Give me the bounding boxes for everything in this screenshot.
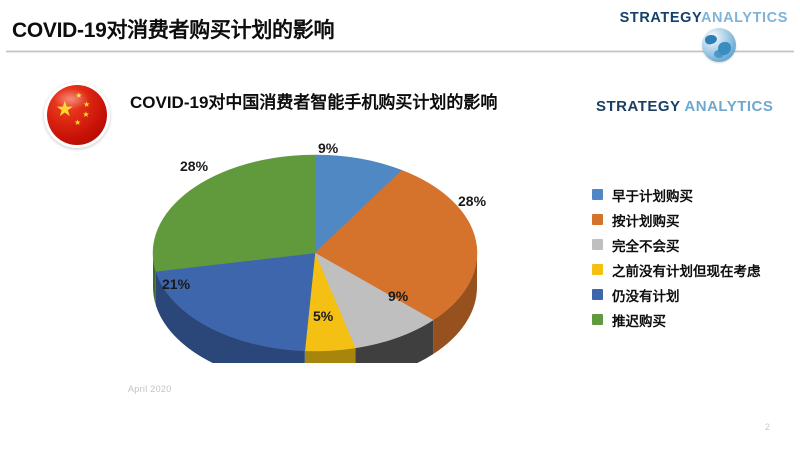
legend-label-3: 之前没有计划但现在考虑 — [612, 260, 761, 280]
pie-label-2: 9% — [388, 288, 408, 304]
flag-sphere: ★ ★ ★ ★ ★ — [47, 85, 107, 145]
pie-label-0: 9% — [318, 140, 338, 156]
panel-logo-strategy: STRATEGY — [596, 98, 680, 115]
legend-item-1[interactable]: 按计划购买 — [592, 207, 797, 232]
legend-item-4[interactable]: 仍没有计划 — [592, 282, 797, 307]
legend-item-5[interactable]: 推迟购买 — [592, 307, 797, 332]
pie-label-4: 21% — [162, 276, 190, 292]
pie-chart-svg — [100, 128, 530, 363]
legend-swatch-icon-0 — [592, 189, 603, 200]
source-note: April 2020 — [128, 384, 172, 394]
pie-label-5: 28% — [180, 158, 208, 174]
legend-swatch-icon-1 — [592, 214, 603, 225]
pie-label-1: 28% — [458, 193, 486, 209]
page-title: COVID-19对消费者购买计划的影响 — [12, 14, 334, 44]
logo-analytics-word: ANALYTICS — [701, 10, 788, 26]
chart-legend: 早于计划购买按计划购买完全不会买之前没有计划但现在考虑仍没有计划推迟购买 — [592, 182, 797, 332]
chart-title: COVID-19对中国消费者智能手机购买计划的影响 — [130, 88, 580, 113]
legend-swatch-icon-4 — [592, 289, 603, 300]
legend-item-2[interactable]: 完全不会买 — [592, 232, 797, 257]
legend-item-3[interactable]: 之前没有计划但现在考虑 — [592, 257, 797, 282]
legend-label-4: 仍没有计划 — [612, 285, 680, 305]
legend-label-5: 推迟购买 — [612, 310, 666, 330]
flag-star-3: ★ — [82, 111, 89, 119]
legend-label-1: 按计划购买 — [612, 210, 680, 230]
globe-icon — [702, 28, 736, 62]
legend-label-0: 早于计划购买 — [612, 185, 693, 205]
logo-strategy-word: STRATEGY — [620, 10, 701, 26]
globe-landmass — [714, 50, 724, 58]
pie-label-3: 5% — [313, 308, 333, 324]
pie-slice-5[interactable] — [153, 155, 315, 271]
flag-star-4: ★ — [74, 119, 81, 127]
panel-logo-analytics: ANALYTICS — [684, 98, 773, 115]
slide: COVID-19对消费者购买计划的影响 STRATEGYANALYTICS ★ … — [0, 0, 800, 450]
legend-swatch-icon-2 — [592, 239, 603, 250]
legend-swatch-icon-5 — [592, 314, 603, 325]
pie-chart: 9% 28% 9% 5% 21% 28% — [100, 128, 530, 363]
flag-gloss — [54, 89, 89, 109]
legend-item-0[interactable]: 早于计划购买 — [592, 182, 797, 207]
page-number: 2 — [765, 422, 770, 432]
panel-logo: STRATEGY ANALYTICS — [596, 98, 773, 115]
legend-swatch-icon-3 — [592, 264, 603, 275]
company-logo-text: STRATEGYANALYTICS — [620, 10, 788, 26]
legend-label-2: 完全不会买 — [612, 235, 680, 255]
company-logo: STRATEGYANALYTICS — [612, 4, 792, 60]
